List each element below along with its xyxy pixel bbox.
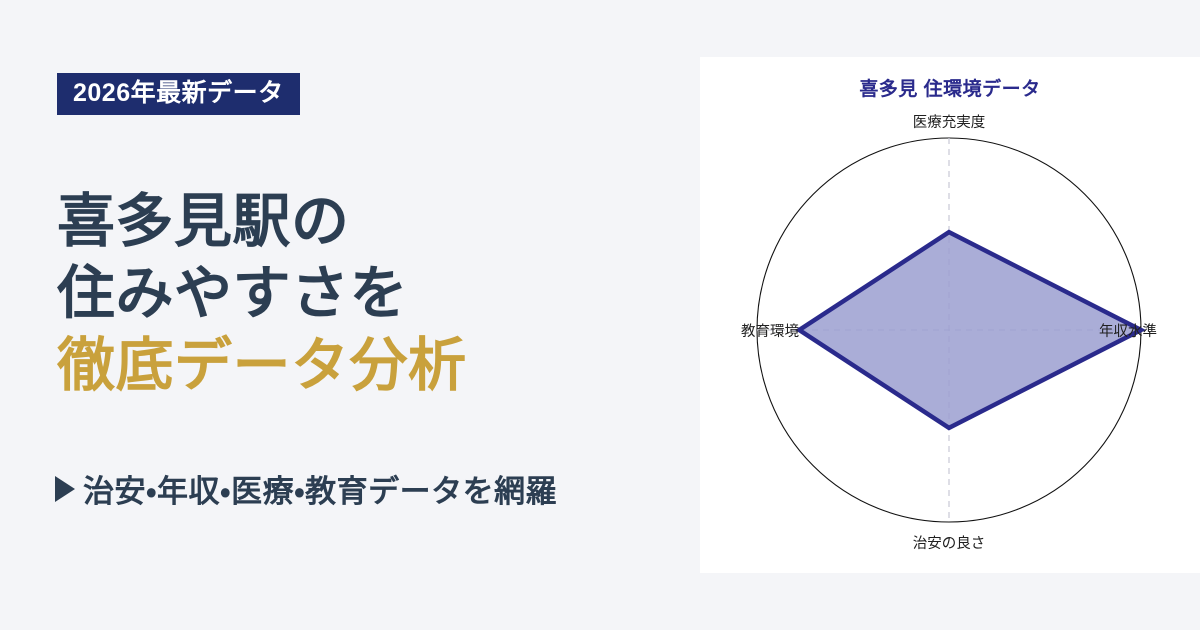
radar-axis-label-right: 年収水準 [1099, 323, 1157, 340]
radar-data-polygon [799, 232, 1141, 428]
latest-data-badge: 2026年最新データ [57, 73, 300, 115]
page-title: 喜多見駅の 住みやすさを 徹底データ分析 [57, 186, 697, 402]
headline-line-3: 徹底データ分析 [57, 330, 697, 402]
triangle-right-icon [55, 476, 75, 502]
subtitle-text: 治安・年収・医療・教育データを網羅 [83, 466, 557, 511]
text-column: 2026年最新データ 喜多見駅の 住みやすさを 徹底データ分析 治安・年収・医療… [0, 0, 700, 630]
radar-chart-panel: 喜多見 住環境データ 医療充実度 年収水準 治安の良さ 教育環境 [700, 57, 1200, 573]
poster-canvas: 2026年最新データ 喜多見駅の 住みやすさを 徹底データ分析 治安・年収・医療… [0, 0, 1200, 630]
radar-axis-label-top: 医療充実度 [913, 114, 986, 131]
subtitle: 治安・年収・医療・教育データを網羅 [55, 466, 557, 511]
headline-line-1: 喜多見駅の [57, 186, 697, 258]
headline-line-2: 住みやすさを [57, 258, 697, 330]
radar-axis-label-left: 教育環境 [741, 323, 799, 340]
radar-axis-label-bottom: 治安の良さ [913, 535, 986, 552]
radar-chart: 医療充実度 年収水準 治安の良さ 教育環境 [700, 57, 1200, 573]
